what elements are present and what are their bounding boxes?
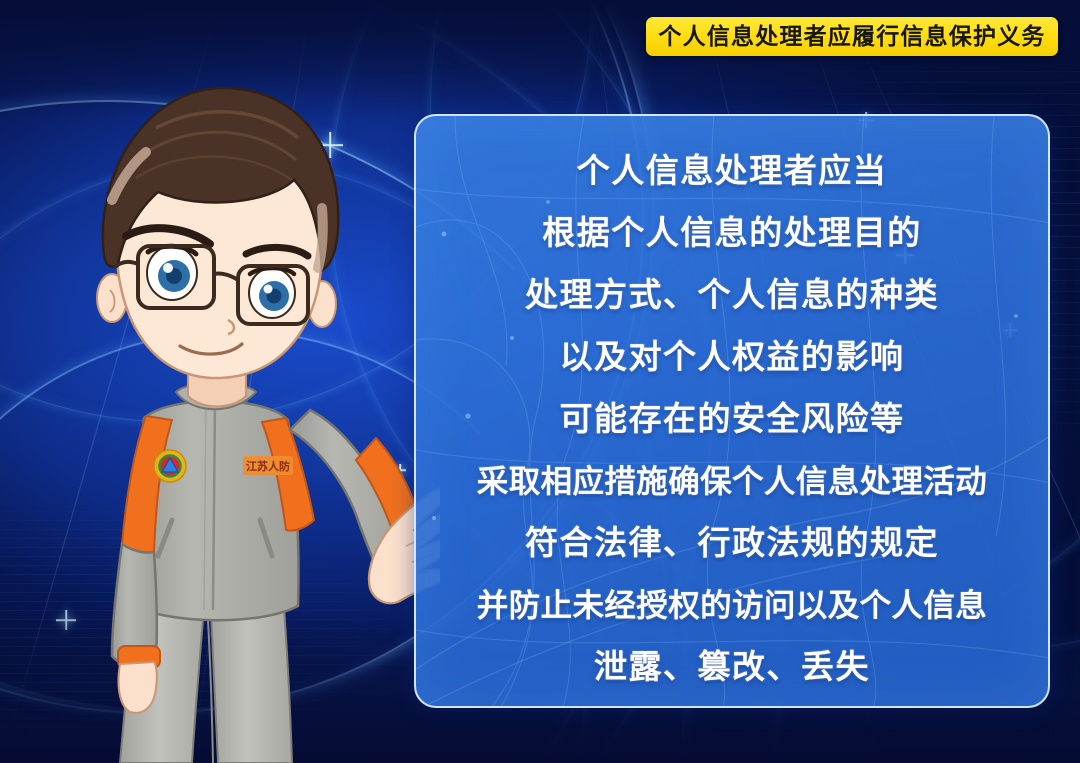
panel-line: 根据个人信息的处理目的 bbox=[542, 202, 922, 264]
mascot-left-arm bbox=[112, 544, 160, 713]
panel-line: 处理方式、个人信息的种类 bbox=[525, 264, 939, 326]
panel-line: 采取相应措施确保个人信息处理活动 bbox=[477, 450, 987, 512]
title-banner-text: 个人信息处理者应履行信息保护义务 bbox=[658, 25, 1045, 48]
mascot-character: 江苏人防 bbox=[60, 58, 440, 763]
mascot-badge-emblem bbox=[154, 450, 186, 482]
poster-canvas: 江苏人防 bbox=[0, 0, 1080, 763]
panel-line: 以及对个人权益的影响 bbox=[560, 326, 905, 388]
mascot-chest-patch: 江苏人防 bbox=[243, 456, 293, 475]
panel-line: 个人信息处理者应当 bbox=[577, 140, 888, 202]
mascot-chest-patch-text: 江苏人防 bbox=[246, 459, 290, 473]
panel-text-block: 个人信息处理者应当 根据个人信息的处理目的 处理方式、个人信息的种类 以及对个人… bbox=[416, 116, 1048, 706]
panel-line: 泄露、篡改、丢失 bbox=[594, 636, 870, 698]
panel-line: 并防止未经授权的访问以及个人信息 bbox=[477, 574, 987, 636]
mascot-head bbox=[97, 88, 338, 378]
panel-line: 符合法律、行政法规的规定 bbox=[525, 512, 939, 574]
panel-line: 可能存在的安全风险等 bbox=[560, 388, 905, 450]
content-panel: 个人信息处理者应当 根据个人信息的处理目的 处理方式、个人信息的种类 以及对个人… bbox=[414, 114, 1050, 708]
title-banner: 个人信息处理者应履行信息保护义务 bbox=[646, 17, 1058, 56]
